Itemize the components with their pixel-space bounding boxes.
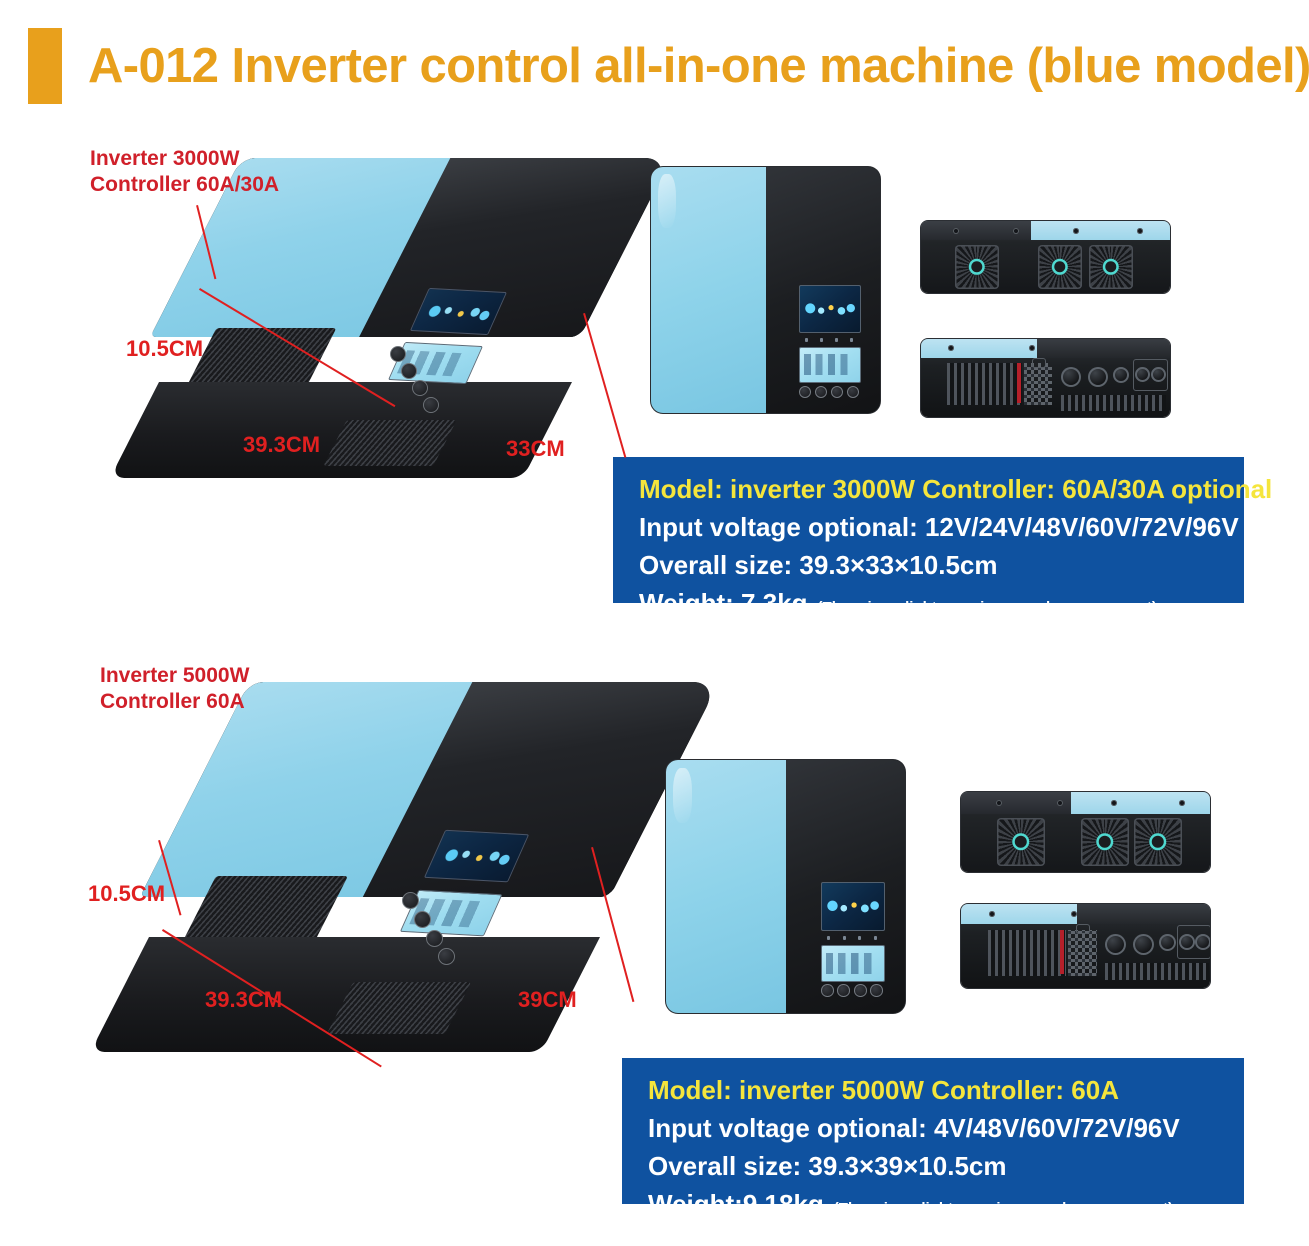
spec-size-line: Overall size: 39.3×39×10.5cm [648,1148,1244,1186]
enter-button[interactable] [438,948,455,965]
battery-positive-connector[interactable] [1179,934,1195,950]
product-block-3000w: Inverter 3000W Controller 60A/30A 10.5CM… [0,110,1309,640]
front-blue-half [666,760,786,1013]
power-button[interactable] [390,346,406,362]
spec-measurement-note: (There is a slight error in manual measu… [808,599,1157,616]
product-block-5000w: Inverter 5000W Controller 60A 10.5CM 39.… [0,640,1309,1246]
cooling-fan-icon [955,245,999,289]
ac-in-connector[interactable] [1061,367,1081,387]
cooling-fan-icon [997,818,1045,866]
cooling-fan-icon [1081,818,1129,866]
battery-negative-connector[interactable] [1151,367,1166,382]
spec-model-line: Model: inverter 5000W Controller: 60A [648,1072,1244,1110]
up-button[interactable] [837,984,850,997]
status-led [835,338,838,342]
page-title: A-012 Inverter control all-in-one machin… [88,42,1309,91]
screw-icon [948,345,954,351]
label-box [1076,924,1090,934]
bottom-fan-grille [323,420,456,466]
status-led [843,936,846,940]
spec-panel-3000w: Model: inverter 3000W Controller: 60A/30… [613,457,1244,603]
top-edge-black [1037,339,1170,358]
connector-view-3000w [921,339,1170,417]
terminal-block [1068,930,1097,976]
front-color-lcd [799,285,861,333]
screw-icon [996,800,1002,806]
screw-icon [1179,800,1185,806]
lower-ventilation-grille [1061,395,1166,411]
cooling-fan-icon [1134,818,1182,866]
product-label-5000w: Inverter 5000W Controller 60A [100,663,249,716]
front-display-cluster [821,882,883,994]
spec-weight-value: Weight: 7.3kg [639,588,808,618]
screw-icon [1111,800,1117,806]
red-marker-stripe [1060,930,1064,974]
red-marker-stripe [1017,363,1021,403]
front-display-cluster [799,285,859,395]
dimension-depth-3000w: 10.5CM [126,336,203,362]
top-edge-blue [1031,221,1170,240]
spec-measurement-note: (There is a slight error in manual measu… [824,1200,1173,1217]
front-button-row[interactable] [821,984,883,997]
top-edge-blue [921,339,1038,358]
front-mono-lcd [799,347,861,383]
title-accent-bar [28,28,62,104]
power-button[interactable] [402,892,419,909]
spec-voltage-line: Input voltage optional: 4V/48V/60V/72V/9… [648,1110,1244,1148]
dimension-height-5000w: 39CM [518,987,577,1013]
hero-image-3000w [150,158,580,478]
down-button[interactable] [426,930,443,947]
cooling-fan-icon [1038,245,1082,289]
screw-icon [1057,800,1063,806]
front-mono-lcd [821,945,885,982]
screw-icon [1071,911,1077,917]
page-header: A-012 Inverter control all-in-one machin… [0,26,1309,106]
dimension-width-3000w: 39.3CM [243,432,320,458]
enter-button[interactable] [423,397,439,413]
ventilation-grille [947,363,1022,405]
battery-positive-connector[interactable] [1135,367,1150,382]
spec-size-line: Overall size: 39.3×33×10.5cm [639,547,1244,585]
down-button[interactable] [412,380,428,396]
ventilation-grille [988,930,1066,976]
top-edge-black [1077,904,1210,924]
label-box [1032,358,1046,368]
spec-weight-line: Weight:9.18kg(There is a slight error in… [648,1186,1244,1224]
screw-icon [1073,228,1079,234]
ground-connector[interactable] [1159,934,1176,951]
terminal-block [1024,363,1052,405]
spec-panel-5000w: Model: inverter 5000W Controller: 60A In… [622,1058,1244,1204]
front-view-5000w [666,760,905,1013]
fan-view-3000w [921,221,1170,293]
enter-button[interactable] [847,386,859,398]
front-button-row[interactable] [799,385,859,398]
status-led-row [821,933,883,943]
product-label-3000w: Inverter 3000W Controller 60A/30A [90,146,279,199]
screw-icon [953,228,959,234]
status-led [874,936,877,940]
connector-view-5000w [961,904,1210,988]
enter-button[interactable] [870,984,883,997]
dimension-width-5000w: 39.3CM [205,987,282,1013]
status-led [858,936,861,940]
status-led [850,338,853,342]
down-button[interactable] [831,386,843,398]
ac-in-connector[interactable] [1105,934,1126,955]
screw-icon [1029,345,1035,351]
battery-negative-connector[interactable] [1195,934,1210,950]
ac-out-connector[interactable] [1133,934,1154,955]
status-led [805,338,808,342]
ac-out-connector[interactable] [1088,367,1108,387]
dimension-height-3000w: 33CM [506,436,565,462]
spec-model-line: Model: inverter 3000W Controller: 60A/30… [639,471,1244,509]
ground-connector[interactable] [1113,367,1129,383]
front-view-3000w [651,167,880,413]
cooling-fan-icon [1089,245,1133,289]
top-edge-blue [1071,792,1210,814]
screw-icon [1137,228,1143,234]
down-button[interactable] [854,984,867,997]
up-button[interactable] [815,386,827,398]
dimension-depth-5000w: 10.5CM [88,881,165,907]
dimension-line-height [583,313,626,458]
control-button-group[interactable] [390,346,436,408]
control-button-group[interactable] [402,892,452,960]
screw-icon [989,911,995,917]
spec-weight-line: Weight: 7.3kg(There is a slight error in… [639,585,1244,623]
front-color-lcd [821,882,885,931]
power-button[interactable] [799,386,811,398]
power-button[interactable] [821,984,834,997]
spec-voltage-line: Input voltage optional: 12V/24V/48V/60V/… [639,509,1244,547]
up-button[interactable] [414,911,431,928]
front-blue-half [651,167,766,413]
status-led [827,936,830,940]
top-edge-blue [961,904,1078,924]
up-button[interactable] [401,363,417,379]
status-led-row [799,335,859,345]
top-edge-black [961,792,1072,814]
status-led [820,338,823,342]
spec-weight-value: Weight:9.18kg [648,1189,824,1219]
lower-ventilation-grille [1105,963,1209,980]
fan-view-5000w [961,792,1210,872]
screw-icon [1013,228,1019,234]
